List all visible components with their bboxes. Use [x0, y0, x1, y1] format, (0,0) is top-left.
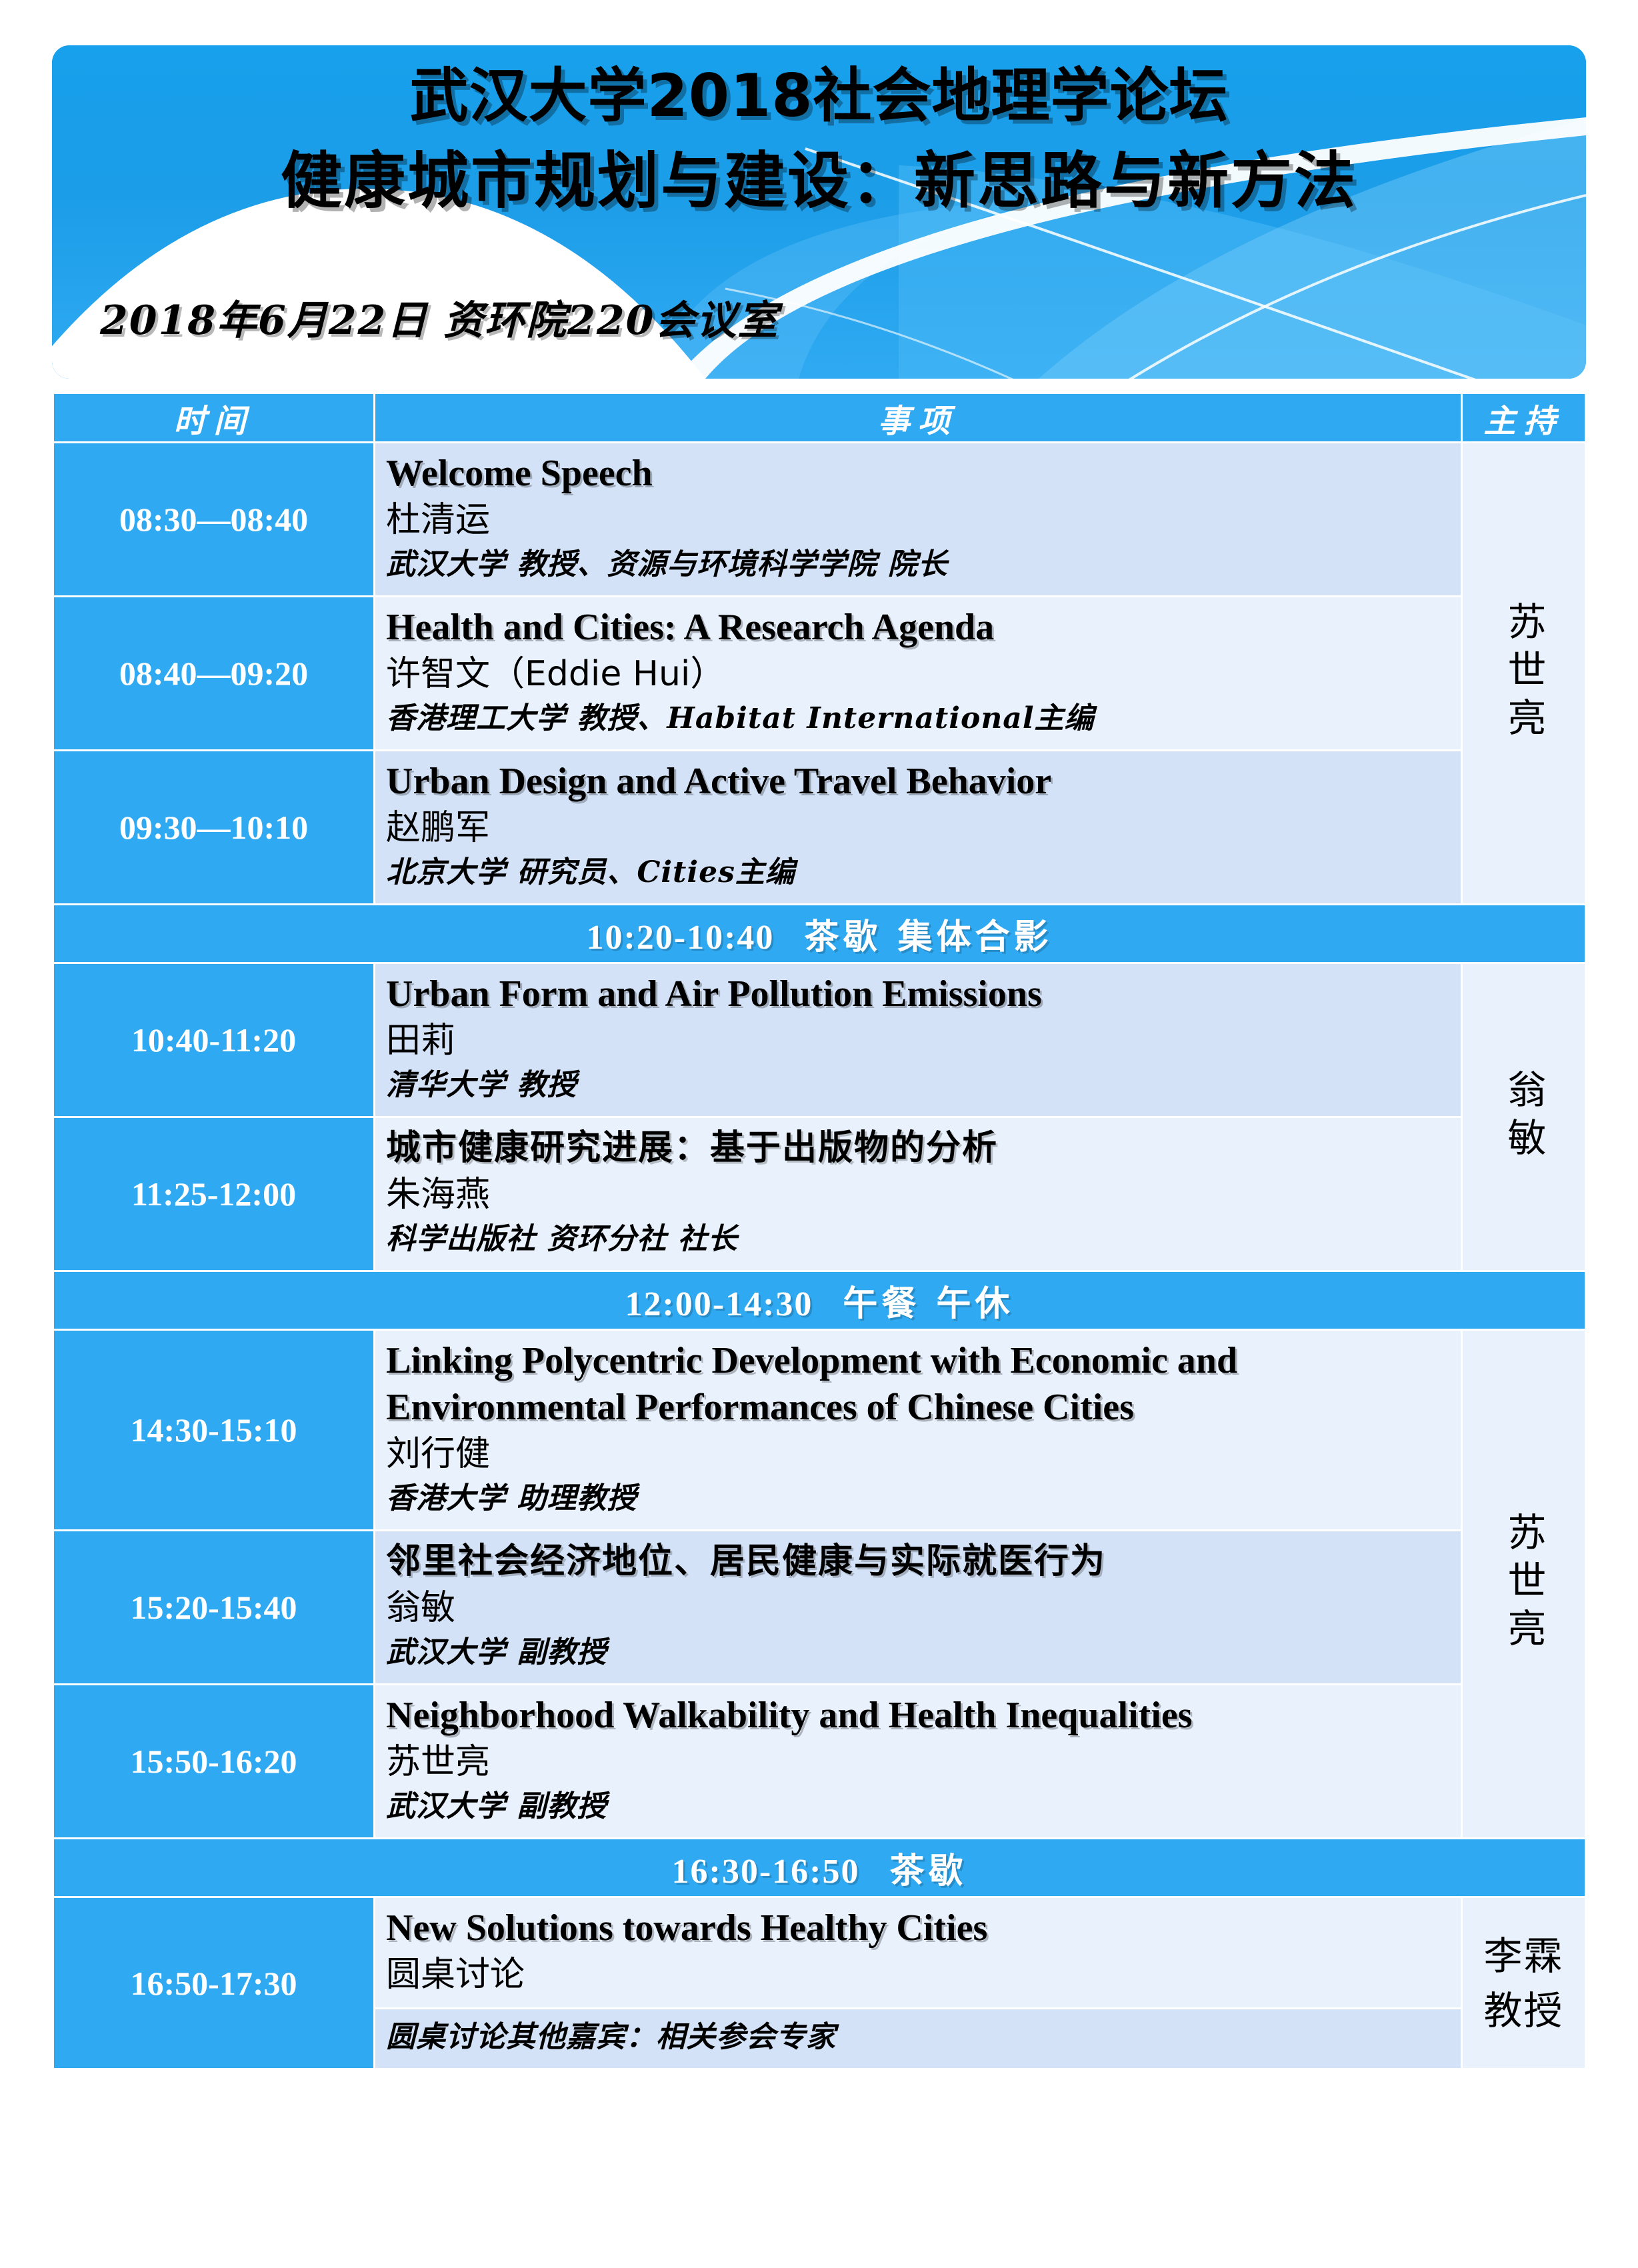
break-label: 茶歇 — [889, 1851, 967, 1891]
session-title: Welcome Speech — [386, 450, 1461, 497]
table-row: 08:40—09:20 Health and Cities: A Researc… — [53, 597, 1586, 751]
table-row: 15:50-16:20 Neighborhood Walkability and… — [53, 1685, 1586, 1839]
session-affiliation: 北京大学 研究员、Cities主编 — [386, 851, 1461, 894]
session-time: 09:30—10:10 — [53, 751, 375, 905]
session-item: Urban Form and Air Pollution Emissions 田… — [375, 963, 1462, 1117]
session-affiliation: 武汉大学 副教授 — [386, 1785, 1461, 1828]
session-affiliation: 香港大学 助理教授 — [386, 1477, 1461, 1520]
session-subtitle: 圆桌讨论 — [386, 1951, 1461, 1998]
session-title: 城市健康研究进展：基于出版物的分析 — [386, 1125, 1461, 1171]
session-item: Linking Polycentric Development with Eco… — [375, 1330, 1462, 1531]
table-row: 10:40-11:20 Urban Form and Air Pollution… — [53, 963, 1586, 1117]
table-row: 14:30-15:10 Linking Polycentric Developm… — [53, 1330, 1586, 1531]
session-title: Linking Polycentric Development with Eco… — [386, 1337, 1461, 1431]
session-title: Urban Design and Active Travel Behavior — [386, 758, 1461, 805]
roundtable-guests-cell: 圆桌讨论其他嘉宾：相关参会专家 — [375, 2009, 1462, 2069]
schedule-table: 时间 事项 主持 08:30—08:40 Welcome Speech 杜清运 … — [52, 392, 1587, 2070]
break-row: 10:20-10:40 茶歇 集体合影 — [53, 905, 1586, 963]
session-title: New Solutions towards Healthy Cities — [386, 1905, 1461, 1951]
session-host: 李霖 教授 — [1462, 1897, 1586, 2069]
session-host: 苏世亮 — [1462, 443, 1586, 905]
session-affiliation: 武汉大学 副教授 — [386, 1631, 1461, 1674]
session-host: 苏世亮 — [1462, 1330, 1586, 1839]
host-name-line-1: 李霖 — [1463, 1929, 1585, 1983]
session-time: 15:50-16:20 — [53, 1685, 375, 1839]
break-time: 16:30-16:50 — [672, 1853, 880, 1891]
table-row: 11:25-12:00 城市健康研究进展：基于出版物的分析 朱海燕 科学出版社 … — [53, 1117, 1586, 1271]
break-cell: 10:20-10:40 茶歇 集体合影 — [53, 905, 1586, 963]
break-label: 午餐 午休 — [843, 1284, 1013, 1324]
break-cell: 12:00-14:30 午餐 午休 — [53, 1271, 1586, 1330]
session-host: 翁敏 — [1462, 963, 1586, 1271]
table-row: 09:30—10:10 Urban Design and Active Trav… — [53, 751, 1586, 905]
session-time: 11:25-12:00 — [53, 1117, 375, 1271]
session-affiliation: 武汉大学 教授、资源与环境科学学院 院长 — [386, 543, 1461, 586]
break-cell: 16:30-16:50 茶歇 — [53, 1839, 1586, 1897]
poster-title-line-2: 健康城市规划与建设：新思路与新方法 — [52, 137, 1586, 225]
table-header-row: 时间 事项 主持 — [53, 393, 1586, 443]
session-speaker: 田莉 — [386, 1017, 1461, 1064]
session-affiliation: 香港理工大学 教授、Habitat International主编 — [386, 697, 1461, 740]
host-name-line-2: 教授 — [1463, 1983, 1585, 2038]
session-speaker: 朱海燕 — [386, 1171, 1461, 1218]
session-speaker: 赵鹏军 — [386, 805, 1461, 851]
session-title: Health and Cities: A Research Agenda — [386, 604, 1461, 651]
host-name: 苏世亮 — [1499, 601, 1549, 745]
session-time: 10:40-11:20 — [53, 963, 375, 1117]
session-item: 邻里社会经济地位、居民健康与实际就医行为 翁敏 武汉大学 副教授 — [375, 1531, 1462, 1685]
break-row: 12:00-14:30 午餐 午休 — [53, 1271, 1586, 1330]
host-name: 翁敏 — [1499, 1069, 1549, 1165]
session-speaker: 苏世亮 — [386, 1739, 1461, 1785]
session-item: Neighborhood Walkability and Health Ineq… — [375, 1685, 1462, 1839]
session-item: Welcome Speech 杜清运 武汉大学 教授、资源与环境科学学院 院长 — [375, 443, 1462, 597]
session-affiliation: 科学出版社 资环分社 社长 — [386, 1218, 1461, 1261]
session-time: 16:50-17:30 — [53, 1897, 375, 2069]
session-item: New Solutions towards Healthy Cities 圆桌讨… — [375, 1897, 1462, 2009]
session-item: Urban Design and Active Travel Behavior … — [375, 751, 1462, 905]
session-time: 08:30—08:40 — [53, 443, 375, 597]
session-title: Urban Form and Air Pollution Emissions — [386, 971, 1461, 1017]
host-name: 苏世亮 — [1499, 1512, 1549, 1656]
session-time: 08:40—09:20 — [53, 597, 375, 751]
session-time: 15:20-15:40 — [53, 1531, 375, 1685]
table-row: 16:50-17:30 New Solutions towards Health… — [53, 1897, 1586, 2009]
session-title: 邻里社会经济地位、居民健康与实际就医行为 — [386, 1538, 1461, 1585]
table-row: 15:20-15:40 邻里社会经济地位、居民健康与实际就医行为 翁敏 武汉大学… — [53, 1531, 1586, 1685]
session-time: 14:30-15:10 — [53, 1330, 375, 1531]
break-label: 茶歇 集体合影 — [804, 917, 1052, 957]
column-header-item: 事项 — [375, 393, 1462, 443]
poster-title-line-1: 武汉大学2018社会地理学论坛 — [52, 55, 1586, 137]
conference-schedule-poster: 武汉大学2018社会地理学论坛 健康城市规划与建设：新思路与新方法 2018年6… — [0, 0, 1638, 2268]
break-row: 16:30-16:50 茶歇 — [53, 1839, 1586, 1897]
break-time: 12:00-14:30 — [625, 1285, 833, 1323]
column-header-host: 主持 — [1462, 393, 1586, 443]
session-speaker: 刘行健 — [386, 1431, 1461, 1477]
break-time: 10:20-10:40 — [586, 919, 794, 957]
banner-title-group: 武汉大学2018社会地理学论坛 健康城市规划与建设：新思路与新方法 — [52, 55, 1586, 225]
session-item: Health and Cities: A Research Agenda 许智文… — [375, 597, 1462, 751]
session-title: Neighborhood Walkability and Health Ineq… — [386, 1692, 1461, 1739]
session-speaker: 许智文（Eddie Hui） — [386, 651, 1461, 697]
session-speaker: 翁敏 — [386, 1585, 1461, 1631]
table-row: 08:30—08:40 Welcome Speech 杜清运 武汉大学 教授、资… — [53, 443, 1586, 597]
event-date-venue: 2018年6月22日 资环院220会议室 — [100, 288, 779, 346]
session-speaker: 杜清运 — [386, 497, 1461, 543]
session-item: 城市健康研究进展：基于出版物的分析 朱海燕 科学出版社 资环分社 社长 — [375, 1117, 1462, 1271]
column-header-time: 时间 — [53, 393, 375, 443]
session-affiliation: 清华大学 教授 — [386, 1064, 1461, 1107]
roundtable-guests: 圆桌讨论其他嘉宾：相关参会专家 — [386, 2016, 1461, 2059]
